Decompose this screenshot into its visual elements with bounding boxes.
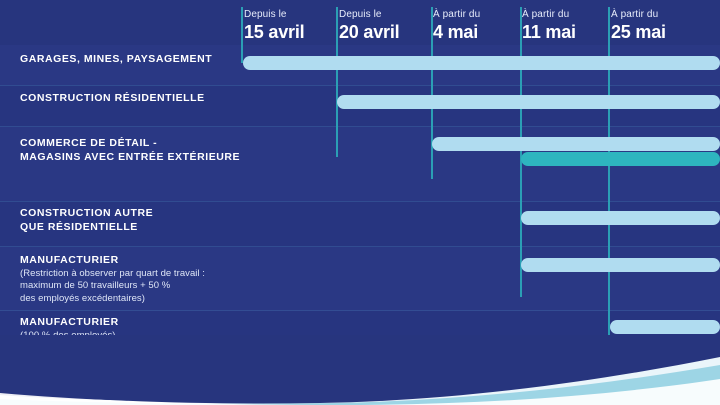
column-date: 25 mai (611, 22, 666, 43)
bar-construction-residentielle (337, 95, 720, 109)
timeline-column-header: Depuis le 20 avril (339, 0, 399, 52)
timeline-column-header: Depuis le 15 avril (244, 0, 304, 52)
column-prefix: À partir du (522, 9, 576, 20)
row-subtitle: (Restriction à observer par quart de tra… (20, 268, 250, 306)
wave-decoration (0, 335, 720, 405)
row-separator (0, 246, 720, 247)
gridline-15-avril (241, 7, 243, 63)
row-label-construction-autre: CONSTRUCTION AUTRE QUE RÉSIDENTIELLE (20, 207, 235, 234)
row-label-garages: GARAGES, MINES, PAYSAGEMENT (20, 53, 235, 67)
timeline-column-header: À partir du 25 mai (611, 0, 666, 52)
bar-construction-autre (521, 211, 720, 225)
gridline-11-mai (520, 7, 522, 297)
row-title: CONSTRUCTION RÉSIDENTIELLE (20, 92, 235, 106)
bar-commerce-detail-teal (521, 152, 720, 166)
column-prefix: Depuis le (244, 9, 304, 20)
timeline-column-header: À partir du 4 mai (433, 0, 480, 52)
row-separator (0, 126, 720, 127)
bar-manufacturier-restriction (521, 258, 720, 272)
gridline-20-avril (336, 7, 338, 157)
row-separator (0, 201, 720, 202)
bar-commerce-detail (432, 137, 720, 151)
row-title: CONSTRUCTION AUTRE QUE RÉSIDENTIELLE (20, 207, 235, 234)
column-date: 20 avril (339, 22, 399, 43)
column-date: 4 mai (433, 22, 480, 43)
row-title: MANUFACTURIER (20, 316, 235, 330)
column-prefix: À partir du (611, 9, 666, 20)
row-separator (0, 310, 720, 311)
row-title: MANUFACTURIER (20, 254, 250, 268)
gridline-4-mai (431, 7, 433, 179)
timeline-header: Depuis le 15 avril Depuis le 20 avril À … (236, 0, 720, 52)
infographic-timeline: Depuis le 15 avril Depuis le 20 avril À … (0, 0, 720, 405)
row-title: COMMERCE DE DÉTAIL - MAGASINS AVEC ENTRÉ… (20, 137, 245, 164)
column-date: 11 mai (522, 22, 576, 43)
row-title: GARAGES, MINES, PAYSAGEMENT (20, 53, 235, 67)
bar-manufacturier-100 (610, 320, 720, 334)
timeline-column-header: À partir du 11 mai (522, 0, 576, 52)
column-prefix: Depuis le (339, 9, 399, 20)
column-date: 15 avril (244, 22, 304, 43)
row-label-manufacturier-restriction: MANUFACTURIER (Restriction à observer pa… (20, 254, 250, 305)
bar-garages (243, 56, 720, 70)
row-label-commerce-detail: COMMERCE DE DÉTAIL - MAGASINS AVEC ENTRÉ… (20, 137, 245, 164)
row-separator (0, 85, 720, 86)
row-label-construction-residentielle: CONSTRUCTION RÉSIDENTIELLE (20, 92, 235, 106)
column-prefix: À partir du (433, 9, 480, 20)
